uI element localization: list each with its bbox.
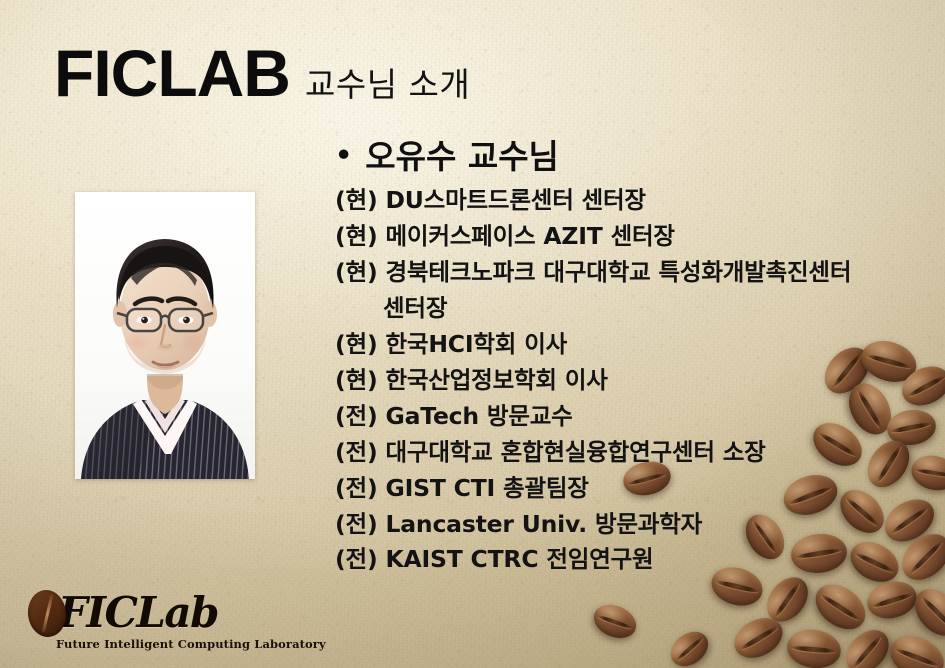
list-item: (전) GaTech 방문교수 <box>335 399 935 435</box>
logo-row: FICLab <box>28 590 243 636</box>
list-item: (전) 대구대학교 혼합현실융합연구센터 소장 <box>335 435 935 471</box>
portrait-photo <box>75 192 255 479</box>
page-subtitle: 교수님 소개 <box>305 68 470 101</box>
logo-tagline: Future Intelligent Computing Laboratory <box>56 637 243 651</box>
presentation-slide: FICLAB 교수님 소개 <box>0 0 945 668</box>
list-item: (현) 한국산업정보학회 이사 <box>335 363 935 399</box>
person-portrait-icon <box>75 192 255 479</box>
list-item: (전) GIST CTI 총괄팀장 <box>335 471 935 507</box>
bullet-icon: • <box>335 138 352 174</box>
professor-name: 오유수 교수님 <box>365 138 559 177</box>
ficlab-logo: FICLab Future Intelligent Computing Labo… <box>28 590 243 656</box>
portrait-photo-image <box>75 192 255 479</box>
slide-title: FICLAB 교수님 소개 <box>54 40 470 106</box>
list-item: (전) Lancaster Univ. 방문과학자 <box>335 507 935 543</box>
logo-wordmark: FICLab <box>58 592 218 634</box>
list-item: (현) 경북테크노파크 대구대학교 특성화개발촉진센터 <box>335 255 935 291</box>
list-item: (현) 한국HCI학회 이사 <box>335 327 935 363</box>
list-item: (전) KAIST CTRC 전임연구원 <box>335 542 935 578</box>
list-item: (현) DU스마트드론센터 센터장 <box>335 183 935 219</box>
page-title: FICLAB <box>54 40 290 106</box>
profile-content: • 오유수 교수님 (현) DU스마트드론센터 센터장 (현) 메이커스페이스 … <box>335 138 935 578</box>
professor-name-heading: • 오유수 교수님 <box>335 138 935 177</box>
list-item-continuation: 센터장 <box>335 291 935 327</box>
list-item: (현) 메이커스페이스 AZIT 센터장 <box>335 219 935 255</box>
credentials-list: (현) DU스마트드론센터 센터장 (현) 메이커스페이스 AZIT 센터장 (… <box>335 183 935 578</box>
